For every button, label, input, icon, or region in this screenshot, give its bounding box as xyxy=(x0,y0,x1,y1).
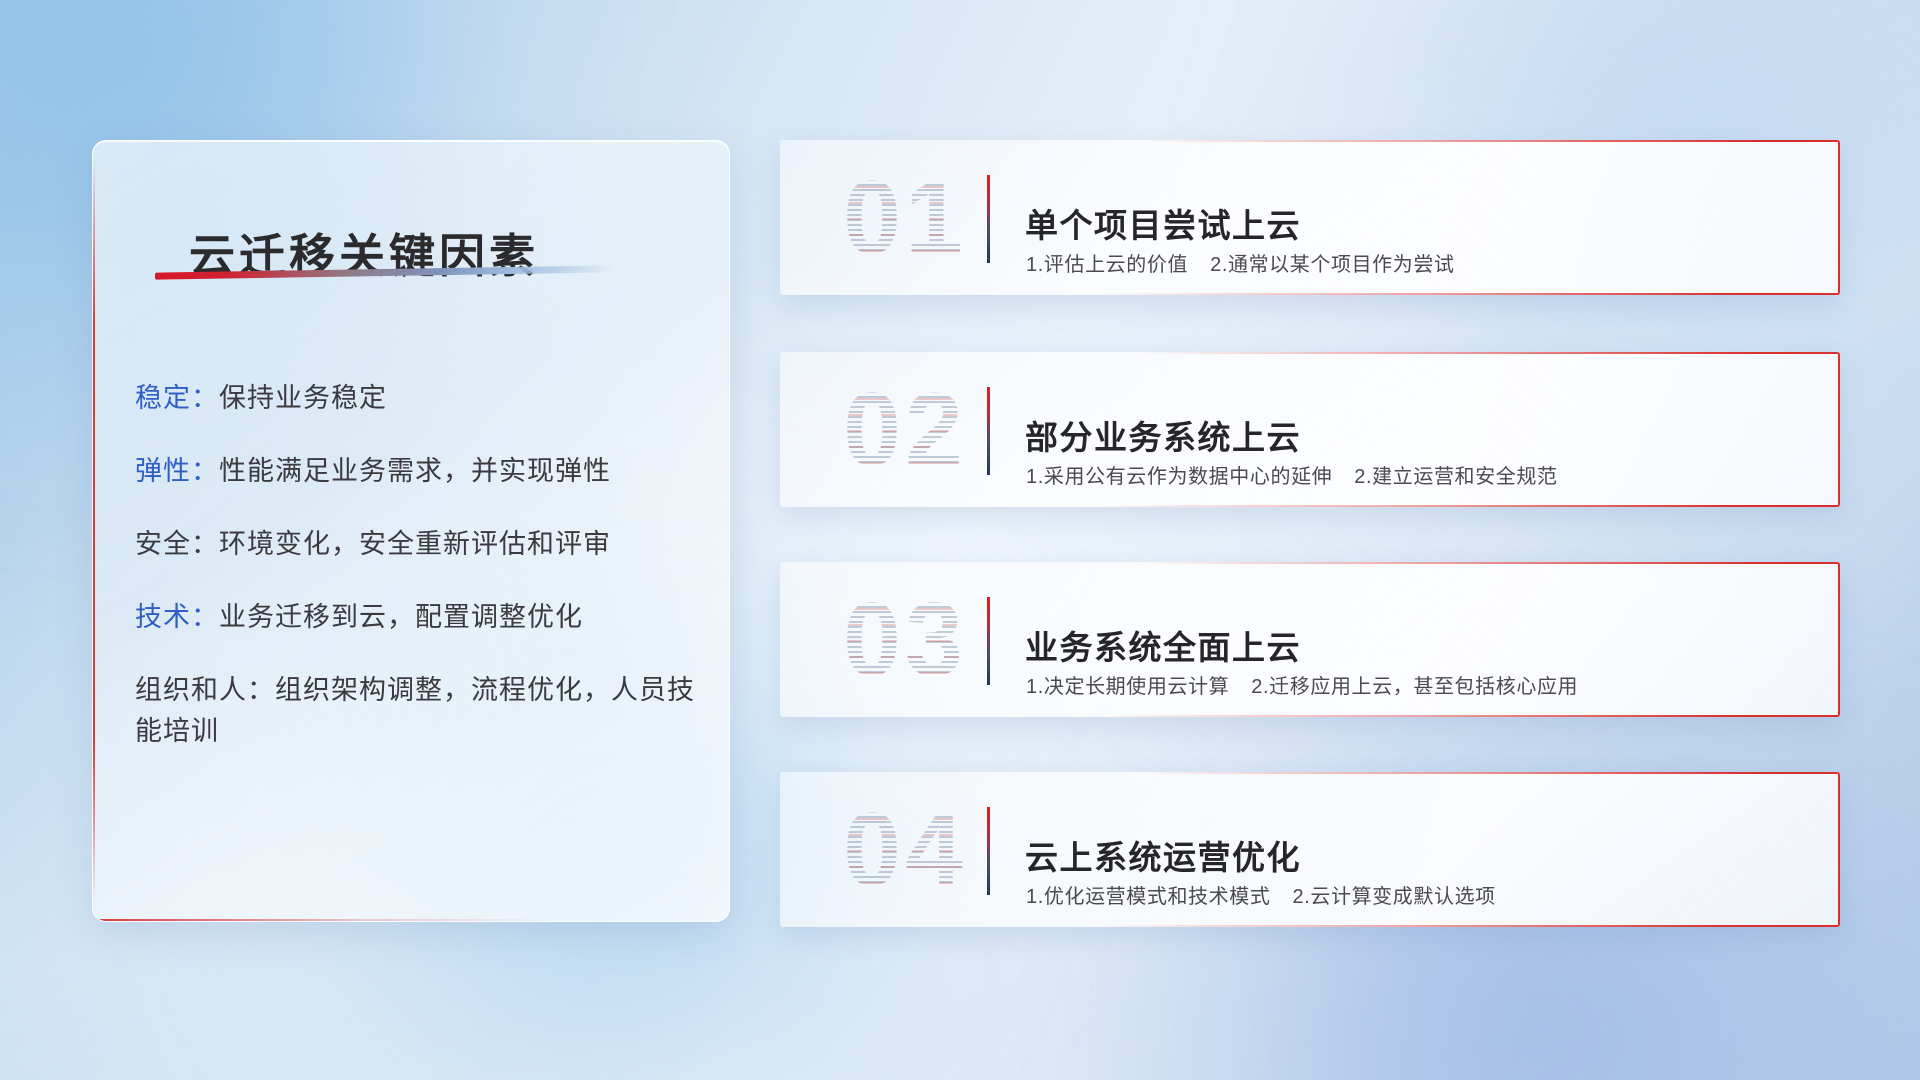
stage-point-1: 1.决定长期使用云计算 xyxy=(1026,676,1229,698)
stage-point-2: 2.建立运营和安全规范 xyxy=(1354,466,1557,488)
stage-point-1: 1.采用公有云作为数据中心的延伸 xyxy=(1026,466,1332,488)
key-factors-list: 稳定：保持业务稳定 弹性：性能满足业务需求，并实现弹性 安全：环境变化，安全重新… xyxy=(135,351,695,752)
stage-title: 部分业务系统上云 xyxy=(1025,411,1301,459)
stage-point-1: 1.优化运营模式和技术模式 xyxy=(1026,886,1270,908)
stage-divider-bar xyxy=(987,597,990,685)
stage-divider-bar xyxy=(987,807,990,895)
stage-points: 1.采用公有云作为数据中心的延伸2.建立运营和安全规范 xyxy=(1026,460,1558,489)
stage-title: 云上系统运营优化 xyxy=(1025,831,1301,879)
stage-points: 1.评估上云的价值2.通常以某个项目作为尝试 xyxy=(1026,248,1455,277)
list-item-label: 稳定： xyxy=(135,383,219,413)
stage-number-red-overlay: 01 xyxy=(810,154,1000,282)
stage-card[interactable]: 03 03 业务系统全面上云 1.决定长期使用云计算2.迁移应用上云，甚至包括核… xyxy=(780,562,1840,717)
card-right-edge-accent xyxy=(1838,562,1840,717)
list-item: 稳定：保持业务稳定 xyxy=(135,378,695,419)
list-item-label: 组织和人： xyxy=(135,675,275,705)
stage-number-red-overlay: 04 xyxy=(810,786,1000,914)
list-item-text: 性能满足业务需求，并实现弹性 xyxy=(219,456,611,486)
stage-card[interactable]: 01 01 单个项目尝试上云 1.评估上云的价值2.通常以某个项目作为尝试 xyxy=(780,140,1840,295)
card-right-edge-accent xyxy=(1838,140,1840,295)
list-item-text: 保持业务稳定 xyxy=(219,383,387,413)
list-item-label: 技术： xyxy=(135,602,219,632)
key-factors-panel: 云迁移关键因素 稳定：保持业务稳定 弹性：性能满足业务需求，并实现弹性 安全：环… xyxy=(92,140,730,922)
list-item-text: 环境变化，安全重新评估和评审 xyxy=(219,529,611,559)
stage-point-2: 2.迁移应用上云，甚至包括核心应用 xyxy=(1251,676,1578,698)
stage-point-2: 2.通常以某个项目作为尝试 xyxy=(1210,254,1454,276)
stage-number-red-overlay: 02 xyxy=(810,366,1000,494)
stage-card[interactable]: 04 04 云上系统运营优化 1.优化运营模式和技术模式2.云计算变成默认选项 xyxy=(780,772,1840,927)
list-item-label: 安全： xyxy=(135,529,219,559)
stage-divider-bar xyxy=(987,387,990,475)
list-item-label: 弹性： xyxy=(135,456,219,486)
list-item: 弹性：性能满足业务需求，并实现弹性 xyxy=(135,451,695,492)
list-item: 组织和人：组织架构调整，流程优化，人员技能培训 xyxy=(135,670,695,752)
list-item-text: 业务迁移到云，配置调整优化 xyxy=(219,602,583,632)
stage-number-red-overlay: 03 xyxy=(810,576,1000,704)
slide-content: 云迁移关键因素 稳定：保持业务稳定 弹性：性能满足业务需求，并实现弹性 安全：环… xyxy=(0,0,1920,1080)
list-item: 技术：业务迁移到云，配置调整优化 xyxy=(135,597,695,638)
stage-points: 1.决定长期使用云计算2.迁移应用上云，甚至包括核心应用 xyxy=(1026,670,1578,699)
stage-points: 1.优化运营模式和技术模式2.云计算变成默认选项 xyxy=(1026,880,1496,909)
card-right-edge-accent xyxy=(1838,772,1840,927)
stage-point-2: 2.云计算变成默认选项 xyxy=(1292,886,1495,908)
list-item: 安全：环境变化，安全重新评估和评审 xyxy=(135,524,695,565)
stage-point-1: 1.评估上云的价值 xyxy=(1026,254,1188,276)
stage-divider-bar xyxy=(987,175,990,263)
stage-title: 单个项目尝试上云 xyxy=(1025,199,1301,247)
stage-title: 业务系统全面上云 xyxy=(1025,621,1301,669)
card-right-edge-accent xyxy=(1838,352,1840,507)
stage-card[interactable]: 02 02 部分业务系统上云 1.采用公有云作为数据中心的延伸2.建立运营和安全… xyxy=(780,352,1840,507)
